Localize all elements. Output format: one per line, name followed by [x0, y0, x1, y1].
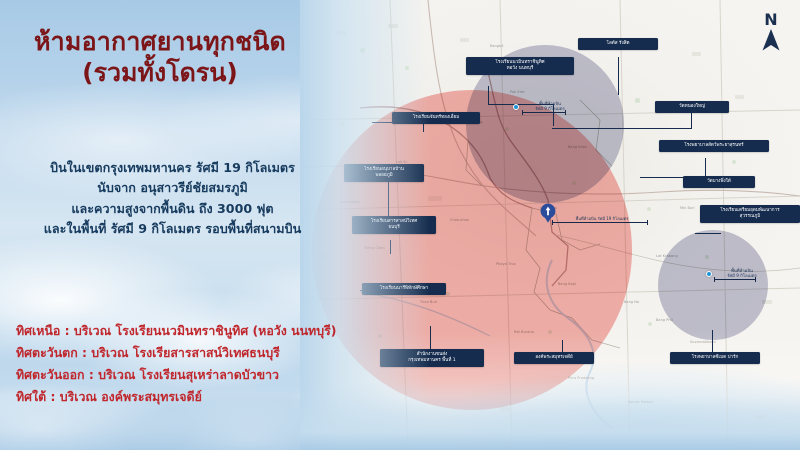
description-block: บินในเขตกรุงเทพมหานคร รัศมี 19 กิโลเมตร …: [0, 158, 345, 240]
radius-note-main: พื้นที่ห้ามบิน รัศมี 19 กิโลเมตร: [556, 216, 648, 221]
map-place-name: Rangsit: [490, 44, 503, 48]
description-line-3: และความสูงจากพื้นดิน ถึง 3000 ฟุต: [0, 199, 345, 219]
direction-legend: ทิศเหนือ : บริเวณ โรงเรียนนวมินทราชินูทิ…: [16, 320, 416, 408]
radius-note-donmueang: พื้นที่ห้ามบิน รัศมี 9 กิโลเมตร: [522, 101, 578, 112]
direction-item-west: ทิศตะวันตก : บริเวณ โรงเรียสารสาสน์วิเทศ…: [16, 342, 416, 364]
map-label-school-triam-udom-suvarnabhumi[interactable]: โรงเรียนเตรียมอุดมพัฒนาการ สุวรรณภูมิ: [700, 205, 800, 223]
map-label-wat-nong-yai[interactable]: วัดหนองใหญ่: [655, 101, 729, 113]
map-label-phra-samut-chedi[interactable]: องค์พระสมุทรเจดีย์: [514, 352, 594, 364]
radius-line-suvarnabhumi: [714, 279, 756, 280]
map-place-name: Bang Na: [624, 300, 639, 304]
map-label-hospital-seamed-park[interactable]: โรงพยาบาลซีเมด ปาร์ก: [670, 352, 760, 364]
leader-line-triam-udom: [695, 233, 721, 234]
direction-item-north: ทิศเหนือ : บริเวณ โรงเรียนนวมินทราชินูทิ…: [16, 320, 416, 342]
map-label-school-chanthong-iam[interactable]: โรงเรียนจันทร์ทองเอี่ยม: [392, 112, 480, 124]
leader-line-wat-nong-yai-v: [691, 113, 692, 129]
map-label-lotus-rangsit[interactable]: โลตัส รังสิต: [578, 38, 658, 50]
compass-north-letter: N: [756, 12, 786, 28]
drone-restriction-center-pin: [540, 203, 556, 223]
description-line-1: บินในเขตกรุงเทพมหานคร รัศมี 19 กิโลเมตร: [0, 158, 345, 178]
description-line-2: นับจาก อนุสาวรีย์ชัยสมรภูมิ: [0, 178, 345, 198]
map-label-animal-hospital[interactable]: โรงพยาบาลสัตว์พระยาสุรนทร์: [659, 140, 769, 152]
compass-north-indicator: N: [756, 12, 786, 54]
nofly-zone-suvarnabhumi-9km: [658, 230, 768, 340]
suvarnabhumi-airport-marker: [706, 271, 712, 277]
direction-item-east: ทิศตะวันออก : บริเวณ โรงเรียนสุเหร่าลาดบ…: [16, 364, 416, 386]
page-title-line2: (รวมทั้งโดรน): [0, 57, 320, 90]
infographic-root: Don Mueang Lak Si Pak Kret Bang Khen Cha…: [0, 0, 800, 450]
leader-line-anuban-v: [388, 178, 389, 218]
donmueang-airport-marker: [513, 104, 519, 110]
leader-line-wat-nong-yai: [552, 128, 692, 129]
map-label-school-nawamin-nonthaburi[interactable]: โรงเรียนนวมินทราชินูทิศ หอวัง นนทบุรี: [466, 57, 574, 75]
north-arrow-icon: [762, 29, 780, 51]
leader-line-nawamin-v: [488, 86, 489, 105]
direction-item-south: ทิศใต้ : บริเวณ องค์พระสมุทรเจดีย์: [16, 386, 416, 408]
map-label-school-sarasas-thonburi[interactable]: โรงเรียนสารสาสน์วิเทศ ธนบุรี: [352, 216, 436, 234]
page-title-line1: ห้ามอากาศยานทุกชนิด: [0, 28, 320, 57]
map-label-school-anuban-phloiphum[interactable]: โรงเรียนอนุบาลบ้าน พลอยภูมิ: [344, 164, 424, 182]
description-line-4: และในพื้นที่ รัศมี 9 กิโลเมตร รอบพื้นที่…: [0, 219, 345, 239]
radius-line-main: [552, 222, 648, 223]
radius-line-donmueang: [522, 112, 566, 113]
map-place-name: Min Buri: [680, 206, 695, 210]
leader-line-lotus-rangsit: [618, 57, 619, 95]
radius-note-suvarnabhumi: พื้นที่ห้ามบิน รัศมี 9 กิโลเมตร: [714, 268, 770, 279]
page-title: ห้ามอากาศยานทุกชนิด (รวมทั้งโดรน): [0, 28, 320, 89]
leader-line-animal-hospital-v: [705, 158, 706, 178]
map-label-wat-bang-phueng-tai[interactable]: วัดบางพึ่งใต้: [683, 176, 755, 188]
leader-line-sarasas-v: [390, 240, 391, 254]
map-label-school-nari-phithak[interactable]: โรงเรียนนารีพิทักษ์ศึกษา: [362, 283, 446, 295]
